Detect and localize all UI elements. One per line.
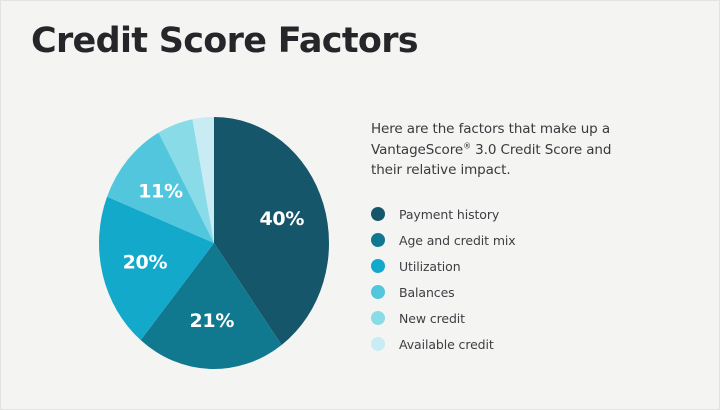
pie-slice-value-label: 40% [260, 208, 305, 230]
legend-color-swatch-icon [371, 259, 385, 273]
legend-item[interactable]: Payment history [371, 203, 681, 226]
legend-color-swatch-icon [371, 207, 385, 221]
description-line-1: Here are the factors that make up a [371, 121, 610, 137]
page-title: Credit Score Factors [31, 23, 418, 60]
legend-color-swatch-icon [371, 285, 385, 299]
legend-item[interactable]: Balances [371, 281, 681, 304]
legend-item-label: Utilization [399, 259, 461, 274]
legend-item[interactable]: New credit [371, 307, 681, 330]
pie-slice-value-label: 21% [190, 310, 235, 332]
description-line-3: their relative impact. [371, 162, 511, 178]
infographic-root: Credit Score Factors 40%21%20%11%5%3% He… [0, 0, 720, 410]
legend-item[interactable]: Age and credit mix [371, 229, 681, 252]
pie-slice-value-label: 11% [138, 180, 183, 202]
pie-chart: 40%21%20%11%5%3% [89, 109, 339, 371]
right-panel: Here are the factors that make up a Vant… [371, 119, 681, 359]
legend-color-swatch-icon [371, 233, 385, 247]
legend-item-label: Available credit [399, 337, 494, 352]
legend-color-swatch-icon [371, 311, 385, 325]
legend-item-label: Age and credit mix [399, 233, 516, 248]
description-line-2-post: 3.0 Credit Score and [471, 142, 611, 158]
chart-description: Here are the factors that make up a Vant… [371, 119, 681, 181]
pie-chart-svg: 40%21%20%11%5%3% [89, 109, 339, 371]
description-brand: VantageScore [371, 142, 463, 158]
legend-item[interactable]: Available credit [371, 333, 681, 356]
legend-item[interactable]: Utilization [371, 255, 681, 278]
legend-item-label: Payment history [399, 207, 499, 222]
legend: Payment historyAge and credit mixUtiliza… [371, 203, 681, 356]
legend-item-label: New credit [399, 311, 465, 326]
registered-trademark-icon: ® [463, 141, 471, 150]
pie-slice-value-label: 20% [123, 251, 168, 273]
legend-item-label: Balances [399, 285, 455, 300]
legend-color-swatch-icon [371, 337, 385, 351]
